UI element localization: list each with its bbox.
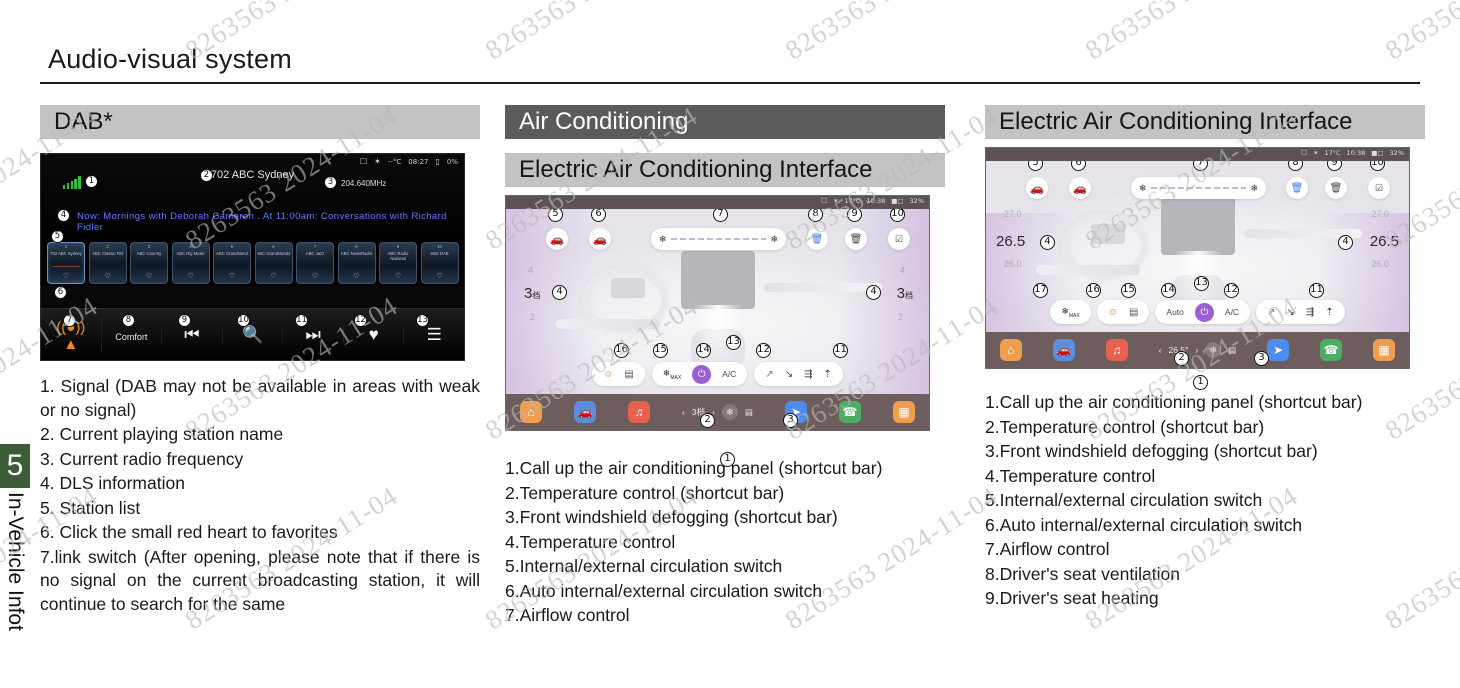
temp-right-above: 4 xyxy=(900,265,905,275)
fan-icon-left: ❄ xyxy=(659,234,667,245)
driver-seat-heating-icon[interactable]: 🗑 xyxy=(845,228,867,250)
favorite-heart-icon[interactable]: ♡ xyxy=(422,272,458,280)
station-tile[interactable]: 5ABC Grandstand♡ xyxy=(213,242,251,284)
caption-line: 3. Current radio frequency xyxy=(40,448,480,472)
ac-dock-right[interactable]: ⌂ 🚗 ♫ ‹ 26.5° › ❄ ▤ ➤ ☎ ▦ xyxy=(986,332,1409,368)
station-tile[interactable]: 1702 ABC Sydney♡ xyxy=(47,242,85,284)
auto-label[interactable]: Auto xyxy=(1166,307,1184,317)
power-group[interactable]: ❄MAX ⏻ A/C xyxy=(652,362,748,386)
callout-10: 10 xyxy=(1370,161,1385,171)
ac-settings-icon[interactable]: ☑ xyxy=(1368,177,1390,199)
watermark-text: 8263563 2024-11-04 xyxy=(1080,0,1304,66)
callout-2-dock: 2 xyxy=(700,413,715,428)
ac-top-bar: ☐ ✶ 17°C 10:38 ■□ 32% xyxy=(506,196,929,209)
ac-toggle-label[interactable]: A/C xyxy=(1225,307,1239,317)
callout-5: 5 xyxy=(1028,161,1043,171)
dock-fan-icon[interactable]: ❄ xyxy=(1205,342,1221,358)
airflow-defrost-icon[interactable]: ⇡ xyxy=(1325,307,1333,318)
next-icon[interactable]: ⏭ xyxy=(283,326,344,343)
ac-body-right: 🚗 5 🚗 6 ❄ ❄ 7 🗑 8 🗑 9 ☑ 10 27.0 26.5 4 2… xyxy=(986,161,1409,332)
caption-line: 5.Internal/external circulation switch xyxy=(505,555,945,579)
middle-column: Air Conditioning Electric Air Conditioni… xyxy=(505,105,945,629)
temp-right-main: 26.5 xyxy=(1370,233,1399,250)
electric-ac-screenshot-mid: ☐ ✶ 17°C 10:38 ■□ 32% 🚗 5 🚗 xyxy=(505,195,930,431)
callout-8: 8 xyxy=(1288,161,1303,171)
station-name: ABC Radio National xyxy=(381,251,415,261)
right-column: Electric Air Conditioning Interface ☐ ✶ … xyxy=(985,105,1425,612)
favorite-heart-icon[interactable]: ♡ xyxy=(297,272,333,280)
ac-top-bar-right: ☐ ✶ 17°C 10:38 ■□ 32% xyxy=(986,148,1409,161)
station-number: 8 xyxy=(339,244,375,249)
bluetooth-icon: ✶ xyxy=(833,197,838,205)
favorite-heart-icon[interactable]: ♡ xyxy=(131,272,167,280)
caption-line: 4.Temperature control xyxy=(985,465,1425,489)
ac-status-bar: ☐ ✶ 17°C 10:38 ■□ 32% xyxy=(821,197,924,205)
max-cool-group[interactable]: ❄MAX xyxy=(1050,300,1090,324)
circulation-internal-icon[interactable]: 🚗 xyxy=(546,228,568,250)
station-name: SBS DAB xyxy=(423,251,457,256)
callout-6: 6 xyxy=(1071,161,1086,171)
status-time: 08:27 xyxy=(408,158,428,166)
circulation-auto-icon[interactable]: 🚗 xyxy=(1069,177,1091,199)
airflow-track xyxy=(671,238,767,240)
airflow-face-feet-icon[interactable]: ⇶ xyxy=(804,369,812,380)
chapter-side-tab: 5 In-Vehicle Infot xyxy=(0,444,30,688)
defog-group[interactable]: ☺ ▤ xyxy=(1097,300,1150,324)
callout-7: 7 xyxy=(63,314,76,327)
callout-14: 14 xyxy=(696,343,711,358)
station-number: 2 xyxy=(90,244,126,249)
favorite-heart-icon[interactable]: ♡ xyxy=(173,272,209,280)
dab-radio-screenshot: ☐ ✶ --°C 08:27 ▯ 0% 1 702 ABC Sydney 2 2… xyxy=(40,153,465,361)
dock-temperature-control[interactable]: ‹ 26.5° › ❄ ▤ xyxy=(1159,342,1237,358)
callout-13: 13 xyxy=(726,335,741,350)
status-temperature: --°C xyxy=(388,158,401,166)
callout-4: 4 xyxy=(57,209,70,222)
vent-right-graphic xyxy=(764,283,882,292)
caption-line: 1. Signal (DAB may not be available in a… xyxy=(40,375,480,422)
status-time: 10:38 xyxy=(867,197,886,205)
defog-group[interactable]: ☺ ▤ xyxy=(592,362,645,386)
dab-station-list[interactable]: 1702 ABC Sydney♡2ABC Classic FM♡3ABC Cou… xyxy=(47,242,460,284)
station-number: 10 xyxy=(422,244,458,249)
caption-line: 4.Temperature control xyxy=(505,531,945,555)
driver-seat-heating-icon[interactable]: 🗑 xyxy=(1325,177,1347,199)
caption-line: 9.Driver's seat heating xyxy=(985,587,1425,611)
temp-left-above: 27.0 xyxy=(1004,209,1022,219)
dab-section-header: DAB* xyxy=(40,105,480,139)
callout-16: 16 xyxy=(1086,283,1101,298)
ac-control-row-mid[interactable]: ☺ ▤ ❄MAX ⏻ A/C ↗ ↘ ⇶ ⇡ xyxy=(506,362,929,386)
center-screen-graphic xyxy=(1161,197,1235,255)
airflow-track xyxy=(1151,187,1247,189)
callout-13: 13 xyxy=(1194,276,1209,291)
station-name: ABC Classic FM xyxy=(91,251,125,256)
status-battery: 0% xyxy=(447,158,458,166)
page-title: Audio-visual system xyxy=(48,44,292,75)
caption-line: 3.Front windshield defogging (shortcut b… xyxy=(985,440,1425,464)
caption-line: 8.Driver's seat ventilation xyxy=(985,563,1425,587)
home-icon[interactable]: ⌂ xyxy=(1000,339,1022,361)
airflow-control-slider[interactable]: ❄ ❄ xyxy=(651,228,786,250)
battery-icon: ■□ xyxy=(891,197,903,205)
caption-line: 4. DLS information xyxy=(40,472,480,496)
airflow-feet-icon[interactable]: ↘ xyxy=(785,369,793,380)
ac-status-bar-right: ☐ ✶ 17°C 10:38 ■□ 32% xyxy=(1301,149,1404,157)
air-conditioning-section-header: Air Conditioning xyxy=(505,105,945,139)
status-battery: 32% xyxy=(910,197,924,205)
dock-defog-icon[interactable]: ▤ xyxy=(745,407,753,418)
screen-icon: ☐ xyxy=(360,157,367,166)
callout-1: 1 xyxy=(85,175,98,188)
power-button[interactable]: ⏻ xyxy=(692,365,711,384)
circulation-auto-icon[interactable]: 🚗 xyxy=(589,228,611,250)
airflow-face-feet-icon[interactable]: ⇶ xyxy=(1306,307,1314,318)
title-divider xyxy=(40,82,1420,84)
temp-right-above: 27.0 xyxy=(1371,209,1389,219)
callout-16: 16 xyxy=(614,343,629,358)
dab-frequency: 204.640MHz xyxy=(341,179,386,188)
temp-right-below: 26.0 xyxy=(1371,259,1389,269)
station-number: 1 xyxy=(48,244,84,249)
dab-station-name: 702 ABC Sydney xyxy=(41,169,464,181)
station-tile[interactable]: 4ABC Dig Music♡ xyxy=(172,242,210,284)
status-battery: 32% xyxy=(1390,149,1404,157)
phone-icon[interactable]: ☎ xyxy=(1320,339,1342,361)
vehicle-icon[interactable]: 🚗 xyxy=(574,401,596,423)
station-tile[interactable]: 8ABC NewsRadio♡ xyxy=(338,242,376,284)
right-caption-list: 1.Call up the air conditioning panel (sh… xyxy=(985,391,1425,611)
favorite-heart-icon[interactable]: ♡ xyxy=(214,272,250,280)
status-time: 10:38 xyxy=(1347,149,1366,157)
comfort-search-icon[interactable]: Comfort xyxy=(102,326,163,343)
vent-left-graphic xyxy=(1036,265,1140,275)
callout-3-dock: 3 xyxy=(783,413,798,428)
callout-12: 12 xyxy=(354,314,367,327)
caption-line: 5. Station list xyxy=(40,497,480,521)
station-name: ABC Grandstand2 xyxy=(257,251,291,256)
callout-2-dock: 2 xyxy=(1174,351,1189,366)
callout-8: 8 xyxy=(122,314,135,327)
station-name: 702 ABC Sydney xyxy=(49,251,83,256)
caption-line: 7.Airflow control xyxy=(505,604,945,628)
temp-right-below: 2 xyxy=(898,312,903,322)
callout-12: 12 xyxy=(1224,283,1239,298)
dock-temperature-control[interactable]: ‹ 3档 › ❄ ▤ xyxy=(682,404,753,420)
watermark-text: 8263563 2024-11-04 xyxy=(1380,0,1460,66)
status-temperature: 17°C xyxy=(1324,149,1340,157)
airflow-face-icon[interactable]: ↗ xyxy=(1267,307,1275,318)
fan-icon-right: ❄ xyxy=(770,234,778,245)
favorite-heart-icon[interactable]: ♡ xyxy=(256,272,292,280)
station-tile[interactable]: 9ABC Radio National♡ xyxy=(379,242,417,284)
battery-icon: ■□ xyxy=(1371,149,1383,157)
caption-line: 2. Current playing station name xyxy=(40,423,480,447)
ac-control-row-right[interactable]: ❄MAX ☺ ▤ Auto ⏻ A/C ↗ ↘ ⇶ ⇡ xyxy=(986,300,1409,324)
station-number: 9 xyxy=(380,244,416,249)
dock-fan-icon[interactable]: ❄ xyxy=(722,404,738,420)
station-tile[interactable]: 3ABC Country♡ xyxy=(130,242,168,284)
callout-1-right: 1 xyxy=(1193,375,1208,390)
active-underline xyxy=(52,266,80,267)
callout-10: 10 xyxy=(890,209,905,222)
phone-icon[interactable]: ☎ xyxy=(839,401,861,423)
chapter-label: In-Vehicle Infot xyxy=(0,488,30,688)
callout-5: 5 xyxy=(51,230,64,243)
station-name: ABC Dig Music xyxy=(174,251,208,256)
chapter-number: 5 xyxy=(0,444,30,488)
temp-left-above: 4 xyxy=(528,265,533,275)
watermark-text: 8263563 2024-11-04 xyxy=(480,0,704,66)
station-number: 5 xyxy=(214,244,250,249)
station-number: 6 xyxy=(256,244,292,249)
battery-icon: ▯ xyxy=(435,157,439,166)
apps-icon[interactable]: ▦ xyxy=(1373,339,1395,361)
callout-6: 6 xyxy=(54,286,67,299)
callout-15: 15 xyxy=(653,343,668,358)
ac-body-mid: 🚗 5 🚗 6 ❄ ❄ 7 🗑 8 🗑 9 ☑ 10 4 3档 4 2 4 xyxy=(506,209,929,394)
temp-left-below: 26.0 xyxy=(1004,259,1022,269)
callout-11: 11 xyxy=(295,314,308,327)
station-name: ABC Grandstand xyxy=(215,251,249,256)
list-icon[interactable]: ☰ xyxy=(404,326,464,343)
callout-10: 10 xyxy=(237,314,250,327)
previous-icon[interactable]: ⏮ xyxy=(162,326,223,343)
callout-1-mid: 1 xyxy=(720,452,735,467)
callout-2: 2 xyxy=(200,169,213,182)
station-tile[interactable]: 6ABC Grandstand2♡ xyxy=(255,242,293,284)
airflow-mode-group[interactable]: ↗ ↘ ⇶ ⇡ xyxy=(754,362,843,386)
screen-icon: ☐ xyxy=(821,197,827,205)
callout-9: 9 xyxy=(1327,161,1342,171)
center-screen-graphic xyxy=(681,251,755,309)
callout-3: 3 xyxy=(324,176,337,189)
bluetooth-icon: ✶ xyxy=(1313,149,1318,157)
vehicle-icon[interactable]: 🚗 xyxy=(1053,339,1075,361)
caption-line: 7.link switch (After opening, please not… xyxy=(40,546,480,617)
callout-7: 7 xyxy=(1193,161,1208,171)
electric-ac-header-right: Electric Air Conditioning Interface xyxy=(985,105,1425,139)
callout-9: 9 xyxy=(847,209,862,222)
search-icon[interactable]: 🔍 xyxy=(223,326,284,343)
favorite-heart-icon[interactable]: ♥ xyxy=(344,326,405,343)
ac-toggle-label[interactable]: A/C xyxy=(722,369,736,379)
screen-icon: ☐ xyxy=(1301,149,1307,157)
callout-11: 11 xyxy=(833,343,848,358)
temp-left-main: 3档 xyxy=(524,285,540,302)
favorite-heart-icon[interactable]: ♡ xyxy=(48,272,84,280)
airflow-defrost-icon[interactable]: ⇡ xyxy=(824,369,832,380)
favorite-heart-icon[interactable]: ♡ xyxy=(90,272,126,280)
home-icon[interactable]: ⌂ xyxy=(520,401,542,423)
front-defog-icon[interactable]: ☺ xyxy=(603,369,613,380)
station-tile[interactable]: 10SBS DAB♡ xyxy=(421,242,459,284)
left-column: DAB* ☐ ✶ --°C 08:27 ▯ 0% 1 702 ABC Sydne… xyxy=(40,105,480,617)
caption-line: 2.Temperature control (shortcut bar) xyxy=(985,416,1425,440)
vent-left-graphic xyxy=(556,319,660,329)
bluetooth-icon: ✶ xyxy=(374,157,381,166)
status-temperature: 17°C xyxy=(844,197,860,205)
max-cool-icon[interactable]: ❄MAX xyxy=(663,368,681,381)
caption-line: 3.Front windshield defogging (shortcut b… xyxy=(505,506,945,530)
station-number: 7 xyxy=(297,244,333,249)
circulation-internal-icon[interactable]: 🚗 xyxy=(1026,177,1048,199)
station-tile[interactable]: 7ABC Jazz♡ xyxy=(296,242,334,284)
navigation-icon[interactable]: ➤ xyxy=(1267,339,1289,361)
caption-line: 5.Internal/external circulation switch xyxy=(985,489,1425,513)
left-caption-list: 1. Signal (DAB may not be available in a… xyxy=(40,375,480,616)
callout-14: 14 xyxy=(1161,283,1176,298)
temp-left-below: 2 xyxy=(530,312,535,322)
callout-12: 12 xyxy=(756,343,771,358)
station-tile[interactable]: 2ABC Classic FM♡ xyxy=(89,242,127,284)
temp-left-main: 26.5 xyxy=(996,233,1025,250)
station-number: 3 xyxy=(131,244,167,249)
apps-icon[interactable]: ▦ xyxy=(893,401,915,423)
callout-4-right: 4 xyxy=(1338,235,1353,250)
callout-15: 15 xyxy=(1121,283,1136,298)
caption-line: 2.Temperature control (shortcut bar) xyxy=(505,482,945,506)
callout-5: 5 xyxy=(548,209,563,222)
airflow-control-slider[interactable]: ❄ ❄ xyxy=(1131,177,1266,199)
fan-icon-left: ❄ xyxy=(1139,183,1147,194)
caption-line: 6.Auto internal/external circulation swi… xyxy=(985,514,1425,538)
music-icon[interactable]: ♫ xyxy=(1106,339,1128,361)
dock-defog-icon[interactable]: ▤ xyxy=(1228,345,1236,356)
watermark-text: 8263563 2024-11-04 xyxy=(780,0,1004,66)
callout-9: 9 xyxy=(178,314,191,327)
favorite-heart-icon[interactable]: ♡ xyxy=(380,272,416,280)
power-group[interactable]: Auto ⏻ A/C xyxy=(1155,300,1250,324)
callout-11: 11 xyxy=(1309,283,1324,298)
ac-dock-mid[interactable]: ⌂ 🚗 ♫ ‹ 3档 › ❄ ▤ ➤ ☎ ▦ xyxy=(506,394,929,430)
favorite-heart-icon[interactable]: ♡ xyxy=(339,272,375,280)
dab-status-bar: ☐ ✶ --°C 08:27 ▯ 0% xyxy=(360,157,458,166)
callout-6: 6 xyxy=(591,209,606,222)
temp-right-main: 3档 xyxy=(897,285,913,302)
music-icon[interactable]: ♫ xyxy=(628,401,650,423)
electric-ac-sub-header: Electric Air Conditioning Interface xyxy=(505,153,945,187)
callout-3-dock: 3 xyxy=(1254,351,1269,366)
rear-defog-icon[interactable]: ▤ xyxy=(1129,307,1138,318)
station-name: ABC Country xyxy=(132,251,166,256)
power-button[interactable]: ⏻ xyxy=(1195,303,1214,322)
callout-13: 13 xyxy=(416,314,429,327)
airflow-feet-icon[interactable]: ↘ xyxy=(1286,307,1294,318)
callout-8: 8 xyxy=(808,209,823,222)
driver-seat-ventilation-icon[interactable]: 🗑 xyxy=(1286,177,1308,199)
station-name: ABC NewsRadio xyxy=(340,251,374,256)
caption-line: 6.Auto internal/external circulation swi… xyxy=(505,580,945,604)
callout-4-right: 4 xyxy=(866,285,881,300)
electric-ac-screenshot-right: ☐ ✶ 17°C 10:38 ■□ 32% 🚗 5 🚗 6 xyxy=(985,147,1410,369)
airflow-mode-group[interactable]: ↗ ↘ ⇶ ⇡ xyxy=(1256,300,1345,324)
station-number: 4 xyxy=(173,244,209,249)
callout-17: 17 xyxy=(1033,283,1048,298)
dab-toolbar[interactable]: ((●))▲ Comfort ⏮ 🔍 ⏭ ♥ ☰ xyxy=(41,308,464,360)
airflow-face-icon[interactable]: ↗ xyxy=(765,369,773,380)
rear-defog-icon[interactable]: ▤ xyxy=(624,369,633,380)
max-cool-icon[interactable]: ❄MAX xyxy=(1061,306,1079,319)
callout-4-left: 4 xyxy=(552,285,567,300)
caption-line: 6. Click the small red heart to favorite… xyxy=(40,521,480,545)
caption-line: 7.Airflow control xyxy=(985,538,1425,562)
callout-4-left: 4 xyxy=(1040,235,1055,250)
ac-settings-icon[interactable]: ☑ xyxy=(888,228,910,250)
caption-line: 1.Call up the air conditioning panel (sh… xyxy=(985,391,1425,415)
dab-dls-text: Now: Mornings with Deborah Cameron . At … xyxy=(77,211,464,233)
middle-caption-list: 1.Call up the air conditioning panel (sh… xyxy=(505,457,945,628)
station-name: ABC Jazz xyxy=(298,251,332,256)
callout-7: 7 xyxy=(713,209,728,222)
driver-seat-ventilation-icon[interactable]: 🗑 xyxy=(806,228,828,250)
front-defog-icon[interactable]: ☺ xyxy=(1108,307,1118,318)
fan-icon-right: ❄ xyxy=(1250,183,1258,194)
